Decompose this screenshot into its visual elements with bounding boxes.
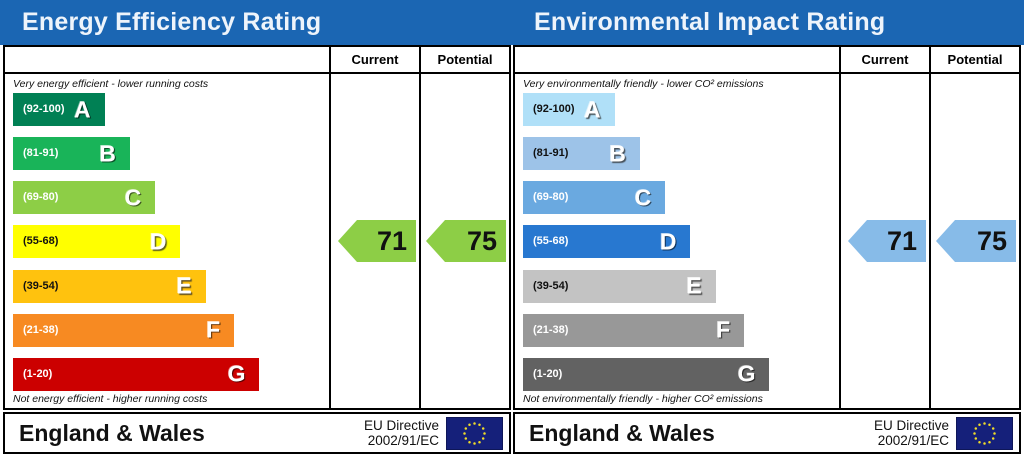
band-bar-c-secondary: (69-80) C	[523, 181, 665, 214]
band-range-f-secondary: (21-38)	[533, 325, 568, 336]
band-letter-c: C	[125, 186, 142, 209]
band-bar-f-secondary: (21-38) F	[523, 314, 744, 347]
eu-directive-line1-secondary: EU Directive	[874, 418, 949, 433]
potential-rating-value-secondary: 75	[977, 228, 1007, 255]
band-range-b-secondary: (81-91)	[533, 148, 568, 159]
band-range-e-secondary: (39-54)	[533, 281, 568, 292]
band-bar-a: (92-100) A	[13, 93, 105, 126]
band-bar-d: (55-68) D	[13, 225, 180, 258]
band-letter-e-secondary: E	[686, 275, 701, 298]
energy-efficiency-table: Current Potential Very energy efficient …	[3, 45, 511, 410]
potential-rating-cell: 75	[419, 74, 509, 408]
band-letter-b-secondary: B	[609, 142, 626, 165]
region-label-secondary: England & Wales	[515, 422, 874, 445]
band-range-a: (92-100)	[23, 104, 65, 115]
column-header-current-secondary: Current	[862, 52, 909, 67]
current-rating-cell-secondary: 71	[839, 74, 929, 408]
environmental-impact-panel: Environmental Impact Rating Current Pote…	[512, 0, 1024, 457]
band-range-e: (39-54)	[23, 281, 58, 292]
environmental-impact-banner: Environmental Impact Rating	[512, 0, 1024, 45]
band-bar-g-secondary: (1-20) G	[523, 358, 769, 391]
column-header-current: Current	[352, 52, 399, 67]
band-range-g-secondary: (1-20)	[533, 369, 562, 380]
eu-directive-line2: 2002/91/EC	[364, 433, 439, 448]
eu-flag-icon-secondary	[956, 417, 1013, 450]
environmental-footer: England & Wales EU Directive 2002/91/EC	[513, 412, 1021, 454]
region-label: England & Wales	[5, 422, 364, 445]
band-bar-g: (1-20) G	[13, 358, 259, 391]
band-range-c: (69-80)	[23, 192, 58, 203]
energy-efficiency-banner: Energy Efficiency Rating	[0, 0, 512, 45]
page-title: Energy Efficiency Rating	[22, 10, 321, 35]
band-letter-g: G	[228, 363, 246, 386]
caption-top: Very energy efficient - lower running co…	[13, 78, 329, 91]
band-letter-f-secondary: F	[716, 319, 730, 342]
environmental-impact-table: Current Potential Very environmentally f…	[513, 45, 1021, 410]
band-range-f: (21-38)	[23, 325, 58, 336]
band-letter-b: B	[99, 142, 116, 165]
eu-directive-text-secondary: EU Directive 2002/91/EC	[874, 418, 956, 448]
current-rating-cell: 71	[329, 74, 419, 408]
column-header-potential-secondary: Potential	[948, 52, 1003, 67]
current-arrow-wrap-secondary: 71	[841, 220, 929, 262]
band-bar-b-secondary: (81-91) B	[523, 137, 640, 170]
header-blank-cell	[5, 47, 329, 72]
eu-directive-line2-secondary: 2002/91/EC	[874, 433, 949, 448]
band-range-g: (1-20)	[23, 369, 52, 380]
table-body-row-secondary: Very environmentally friendly - lower CO…	[515, 74, 1019, 408]
table-header-row-secondary: Current Potential	[515, 47, 1019, 74]
band-letter-f: F	[206, 319, 220, 342]
caption-bottom: Not energy efficient - higher running co…	[13, 392, 329, 406]
header-current-cell: Current	[329, 47, 419, 72]
table-body-row: Very energy efficient - lower running co…	[5, 74, 509, 408]
current-rating-value-secondary: 71	[887, 228, 917, 255]
band-bar-e-secondary: (39-54) E	[523, 270, 716, 303]
potential-rating-arrow-secondary: 75	[936, 220, 1016, 262]
column-header-potential: Potential	[438, 52, 493, 67]
current-rating-arrow-secondary: 71	[848, 220, 926, 262]
header-potential-cell: Potential	[419, 47, 509, 72]
band-range-b: (81-91)	[23, 148, 58, 159]
band-bar-f: (21-38) F	[13, 314, 234, 347]
energy-footer: England & Wales EU Directive 2002/91/EC	[3, 412, 511, 454]
table-header-row: Current Potential	[5, 47, 509, 74]
current-rating-arrow: 71	[338, 220, 416, 262]
potential-arrow-wrap-secondary: 75	[931, 220, 1019, 262]
band-bar-d-secondary: (55-68) D	[523, 225, 690, 258]
eu-flag-icon	[446, 417, 503, 450]
caption-top-secondary: Very environmentally friendly - lower CO…	[523, 78, 839, 91]
band-range-a-secondary: (92-100)	[533, 104, 575, 115]
potential-rating-cell-secondary: 75	[929, 74, 1019, 408]
eu-directive-text: EU Directive 2002/91/EC	[364, 418, 446, 448]
band-range-c-secondary: (69-80)	[533, 192, 568, 203]
potential-rating-value: 75	[467, 228, 497, 255]
header-current-cell-secondary: Current	[839, 47, 929, 72]
header-blank-cell-secondary	[515, 47, 839, 72]
band-bar-e: (39-54) E	[13, 270, 206, 303]
band-letter-e: E	[176, 275, 191, 298]
current-arrow-wrap: 71	[331, 220, 419, 262]
band-bar-b: (81-91) B	[13, 137, 130, 170]
environmental-band-chart: Very environmentally friendly - lower CO…	[515, 74, 839, 408]
page-title-secondary: Environmental Impact Rating	[534, 10, 885, 35]
band-letter-d: D	[150, 230, 167, 253]
band-bar-stack: (92-100) A (81-91) B (69-80) C (55-68)	[13, 91, 329, 392]
band-letter-c-secondary: C	[635, 186, 652, 209]
band-range-d-secondary: (55-68)	[533, 236, 568, 247]
header-potential-cell-secondary: Potential	[929, 47, 1019, 72]
band-bar-c: (69-80) C	[13, 181, 155, 214]
band-letter-a: A	[74, 98, 91, 121]
potential-arrow-wrap: 75	[421, 220, 509, 262]
current-rating-value: 71	[377, 228, 407, 255]
epc-rating-sheet: Energy Efficiency Rating Current Potenti…	[0, 0, 1024, 457]
band-bar-stack-secondary: (92-100) A (81-91) B (69-80) C (55-68)	[523, 91, 839, 392]
band-bar-a-secondary: (92-100) A	[523, 93, 615, 126]
eu-directive-line1: EU Directive	[364, 418, 439, 433]
potential-rating-arrow: 75	[426, 220, 506, 262]
band-letter-d-secondary: D	[660, 230, 677, 253]
caption-bottom-secondary: Not environmentally friendly - higher CO…	[523, 392, 839, 406]
band-letter-a-secondary: A	[584, 98, 601, 121]
energy-band-chart: Very energy efficient - lower running co…	[5, 74, 329, 408]
band-range-d: (55-68)	[23, 236, 58, 247]
energy-efficiency-panel: Energy Efficiency Rating Current Potenti…	[0, 0, 512, 457]
band-letter-g-secondary: G	[738, 363, 756, 386]
